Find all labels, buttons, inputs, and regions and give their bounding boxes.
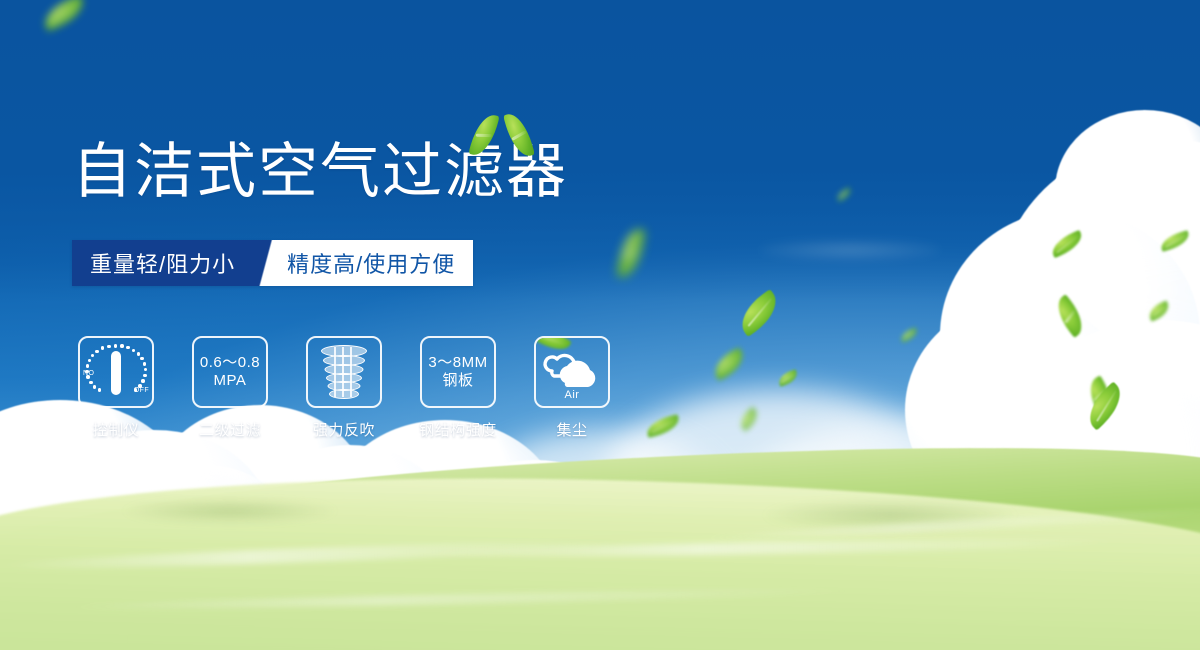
feature-text-line2: MPA [200,372,260,390]
cloud-wisp [820,480,1100,510]
feature-label: 二级过滤 [199,419,261,440]
grass-shadow [760,498,1020,532]
cloud-right [960,390,1200,590]
coil-icon [318,343,370,401]
floating-leaf [1159,230,1192,252]
floating-leaf [1050,294,1090,338]
subtitle-badge: 重量轻/阻力小 精度高/使用方便 [72,240,473,286]
subtitle-right: 精度高/使用方便 [281,240,473,286]
feature-item-strong-backblow[interactable]: 强力反吹 [300,336,388,440]
grass-far-hill [0,448,1200,624]
floating-leaf [1146,300,1172,321]
floating-leaf [645,414,682,438]
feature-icon-box [306,336,382,408]
grass-shadow [120,498,340,524]
cloud-haze [600,390,960,580]
cloud-left [40,430,270,610]
cloud-wisp [620,495,860,521]
grass-streak [420,536,1120,560]
feature-text-line2: 钢板 [428,372,487,390]
feature-item-steel-strength[interactable]: 3～8MM 钢板 钢结构强度 [414,336,502,440]
gauge-icon: NO OFF [83,342,149,402]
cloud-low-puff [690,540,850,635]
cloud-haze [740,420,1060,590]
cloud-right [1000,140,1200,440]
feature-label: 强力反吹 [313,419,375,440]
floating-leaf [39,0,88,31]
subtitle-left: 重量轻/阻力小 [72,240,255,286]
cloud-left [0,470,300,630]
cloud-center [430,460,640,610]
gauge-needle [111,351,121,395]
cloud-low-puff [760,555,890,635]
floating-leaf [733,289,785,337]
feature-icon-box: 0.6～0.8 MPA [192,336,268,408]
floating-leaf [777,369,800,387]
cloud-center [540,475,740,615]
floating-leaf [899,327,919,343]
subtitle-divider [255,240,281,286]
feature-text-line1: 3～8MM [428,354,487,372]
cloud-center [700,470,870,590]
cloud-left [250,445,450,605]
cloud-right [905,300,1135,520]
hero-banner: 自洁式空气过滤器 重量轻/阻力小 精度高/使用方便 NO OFF [0,0,1200,650]
cloud-left [330,420,560,605]
feature-item-two-stage-filter[interactable]: 0.6～0.8 MPA 二级过滤 [186,336,274,440]
grass-streak [700,506,1200,543]
grass-streak [0,537,620,573]
floating-leaf [1048,230,1086,258]
page-title: 自洁式空气过滤器 [72,142,568,202]
feature-text-line1: 0.6～0.8 [200,354,260,372]
cloud-right [1120,330,1200,530]
cloud-center [640,490,830,620]
feature-label: 集尘 [556,419,587,440]
cloud-front-glyph [560,361,595,387]
cloud-wisp [760,240,940,260]
feature-icon-box: 3～8MM 钢板 [420,336,496,408]
floating-leaf [1083,375,1117,414]
feature-icon-box: Air [534,336,610,408]
cloud-left [120,465,290,595]
feature-item-dust-collection[interactable]: Air 集尘 [528,336,616,440]
floating-leaf [835,187,853,202]
feature-item-controller[interactable]: NO OFF [72,336,160,440]
cloud-right [940,210,1200,460]
feature-label: 控制仪 [93,419,140,440]
cloud-haze [470,430,730,580]
grass-hill [0,424,1200,650]
feature-icon-box: NO OFF [78,336,154,408]
feature-text-icon: 3～8MM 钢板 [428,354,487,389]
floating-leaf [709,347,748,381]
cloud-wisp [700,455,1000,491]
cloud-right [1055,110,1200,270]
feature-label: 钢结构强度 [419,419,497,440]
floating-leaf [1080,381,1130,430]
feature-text-icon: 0.6～0.8 MPA [200,354,260,389]
cloud-right [1130,170,1200,400]
sky-background [0,0,1200,650]
air-label: Air [541,389,603,401]
grass-streak [60,586,860,613]
feature-list: NO OFF [72,336,616,440]
grass-foreground [0,464,1200,650]
floating-leaf [736,407,762,432]
floating-leaf [617,227,646,280]
cloud-right [1010,320,1200,570]
cloud-air-icon: Air [541,343,603,401]
